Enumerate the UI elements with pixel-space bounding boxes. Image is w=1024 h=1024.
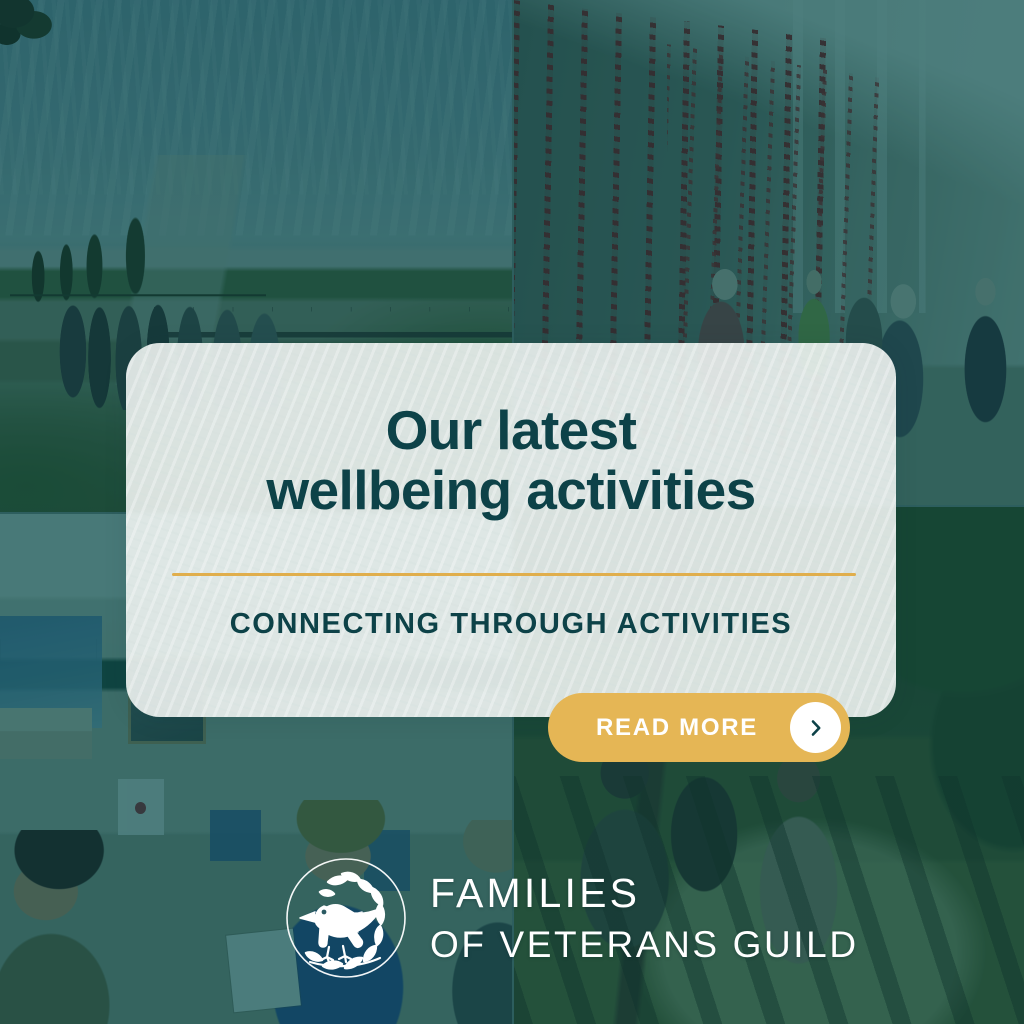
kookaburra-circle-emblem (284, 856, 408, 980)
page-title: Our latest wellbeing activities (126, 401, 896, 521)
brand-wordmark: FAMILIES OF VETERANS GUILD (430, 867, 859, 968)
wordmark-line-2: OF VETERANS GUILD (430, 921, 859, 969)
subheading: CONNECTING THROUGH ACTIVITIES (126, 608, 896, 641)
gold-divider (172, 573, 856, 576)
content-card: Our latest wellbeing activities CONNECTI… (126, 343, 896, 717)
headline-line-1: Our latest (126, 401, 896, 461)
brand-logo: FAMILIES OF VETERANS GUILD (284, 853, 744, 983)
headline-line-2: wellbeing activities (126, 461, 896, 521)
read-more-label: READ MORE (596, 714, 758, 742)
promo-graphic: Our latest wellbeing activities CONNECTI… (0, 0, 1024, 1024)
chevron-right-icon (790, 702, 841, 753)
read-more-button[interactable]: READ MORE (548, 693, 850, 762)
wordmark-line-1: FAMILIES (430, 867, 859, 920)
